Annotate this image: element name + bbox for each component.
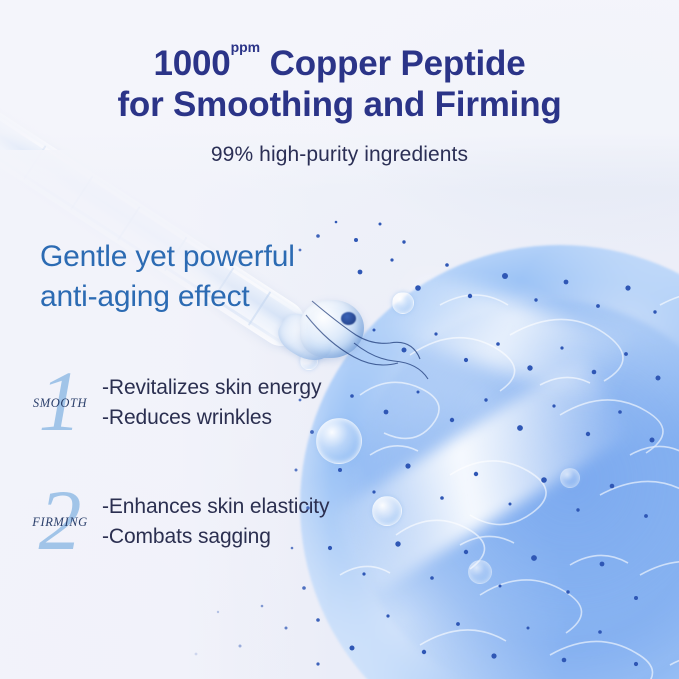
benefit-1-label: SMOOTH	[20, 396, 100, 411]
page-title: 1000ppm Copper Peptide for Smoothing and…	[0, 44, 679, 125]
claim-line-2: anti-aging effect	[40, 277, 295, 317]
subtitle: 99% high-purity ingredients	[0, 143, 679, 167]
benefit-2-lines: -Enhances skin elasticity -Combats saggi…	[102, 492, 329, 552]
benefit-1-badge: 1 SMOOTH	[24, 360, 96, 446]
headline-amount: 1000	[154, 44, 231, 83]
headline-line-1-rest: Copper Peptide	[260, 44, 525, 83]
benefit-1-line-1: -Revitalizes skin energy	[102, 373, 321, 403]
benefit-2-line-2: -Combats sagging	[102, 522, 329, 552]
benefit-item-1: 1 SMOOTH -Revitalizes skin energy -Reduc…	[24, 360, 321, 446]
headline-line-1: 1000ppm Copper Peptide	[0, 44, 679, 85]
benefit-item-2: 2 FIRMING -Enhances skin elasticity -Com…	[24, 479, 329, 565]
product-infographic: 1000ppm Copper Peptide for Smoothing and…	[0, 0, 679, 679]
content-layer: 1000ppm Copper Peptide for Smoothing and…	[0, 0, 679, 679]
headline-line-2: for Smoothing and Firming	[0, 85, 679, 126]
benefit-1-lines: -Revitalizes skin energy -Reduces wrinkl…	[102, 373, 321, 433]
benefit-2-line-1: -Enhances skin elasticity	[102, 492, 329, 522]
claim-text: Gentle yet powerful anti-aging effect	[40, 237, 295, 316]
claim-line-1: Gentle yet powerful	[40, 237, 295, 277]
benefit-2-label: FIRMING	[20, 515, 100, 530]
benefit-2-badge: 2 FIRMING	[24, 479, 96, 565]
headline-unit: ppm	[231, 39, 261, 55]
benefit-1-line-2: -Reduces wrinkles	[102, 403, 321, 433]
